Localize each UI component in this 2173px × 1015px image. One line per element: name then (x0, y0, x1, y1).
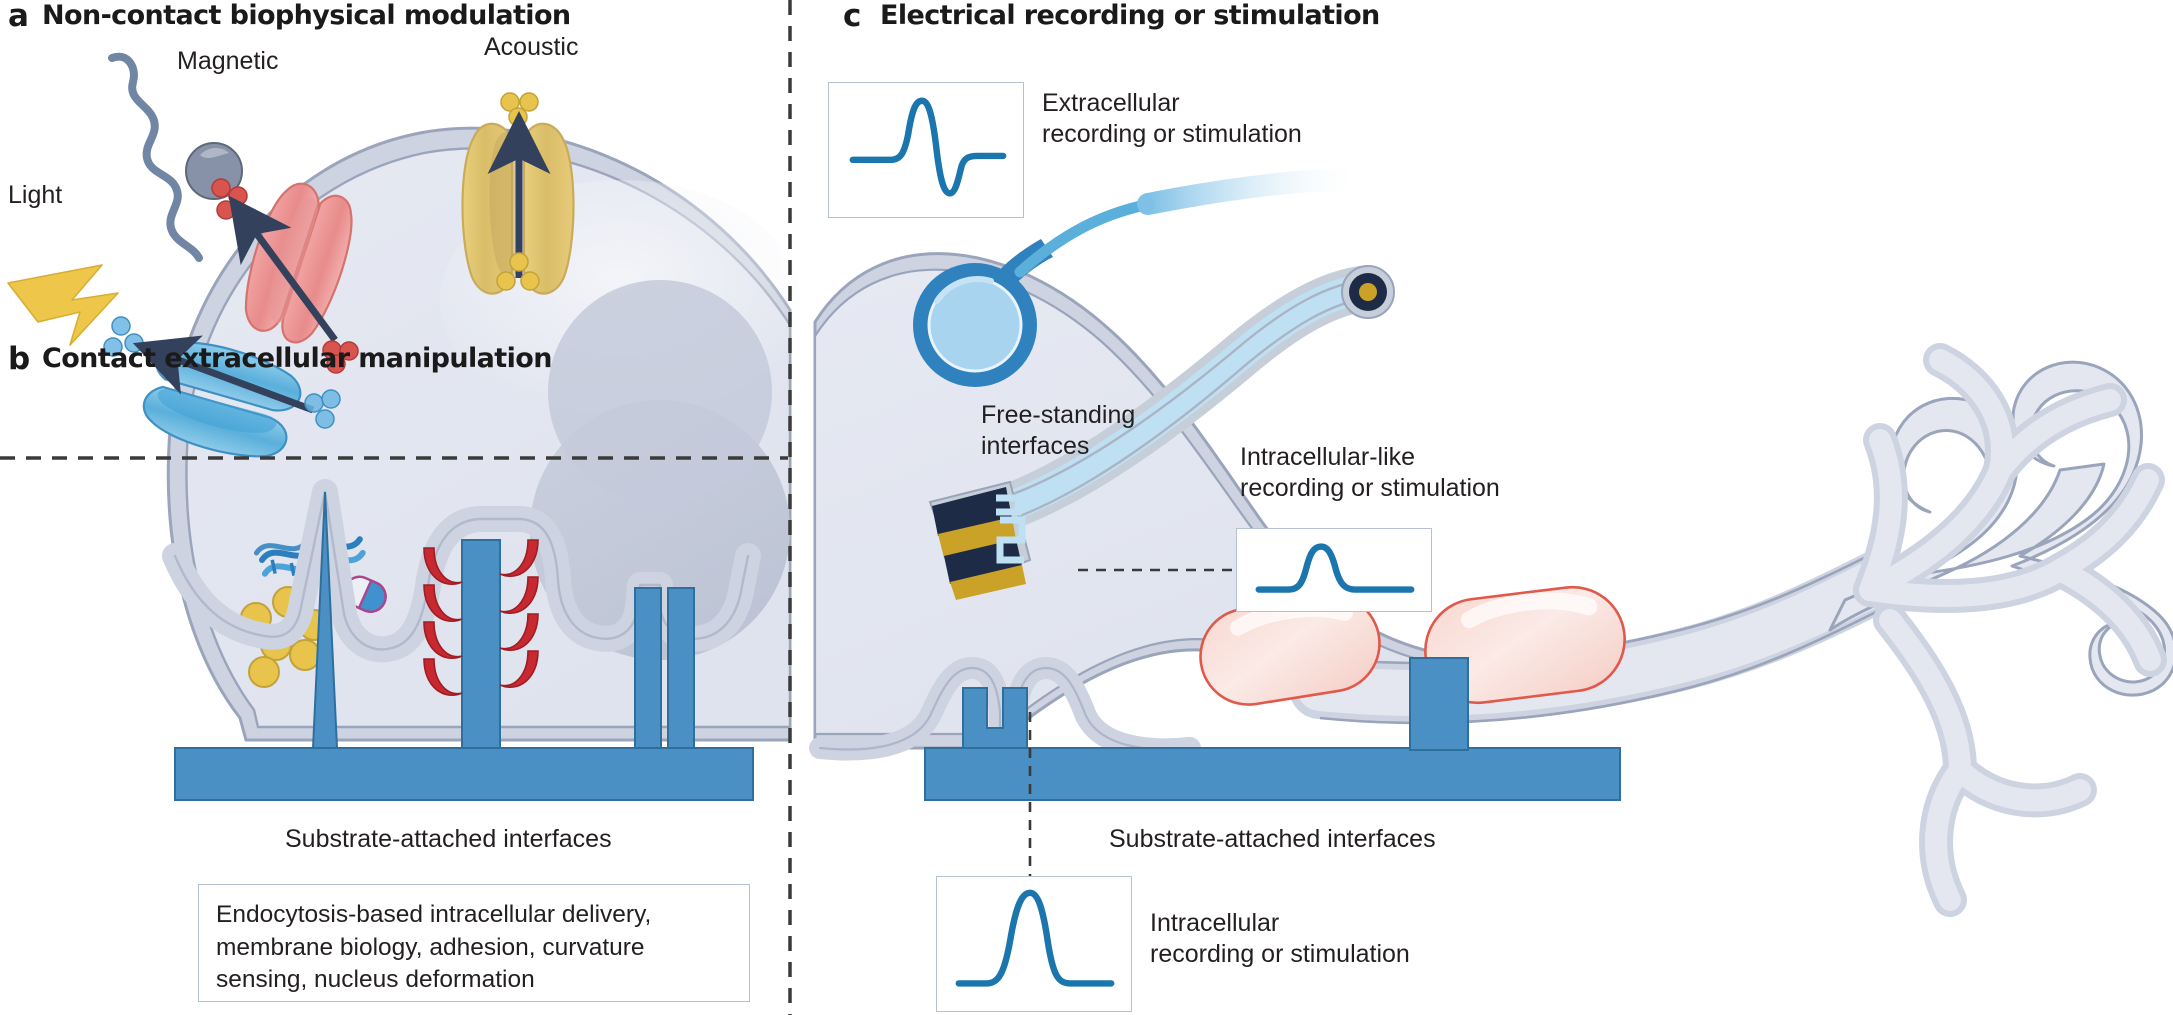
magnetic-ion (217, 201, 235, 219)
intracellular-like-waveform-plot (1237, 529, 1431, 611)
acoustic-ion (521, 272, 539, 290)
light-label: Light (8, 180, 62, 211)
b-nanopillar (462, 540, 500, 748)
magnetic-label: Magnetic (177, 46, 278, 77)
light-ion (305, 394, 323, 412)
acoustic-stimulus-group (463, 93, 574, 294)
panel-c-title: Electrical recording or stimulation (880, 0, 1380, 31)
nanoparticle (290, 640, 320, 670)
figure-root: a Non-contact biophysical modulation Mag… (0, 0, 2173, 1015)
panel-b-letter: b (8, 341, 30, 377)
intracellular-like-waveform-box (1236, 528, 1432, 612)
acoustic-label: Acoustic (484, 32, 578, 63)
panel-b-note-box: Endocytosis-based intracellular delivery… (198, 884, 750, 1002)
light-ion (322, 390, 340, 408)
magnetic-field-wave (112, 57, 199, 258)
patch-cable-stem (1020, 204, 1150, 272)
b-substrate-slab (175, 748, 753, 800)
acoustic-ion (497, 272, 515, 290)
c-axon-pillar (1410, 658, 1468, 750)
b-nanoprong-right (668, 588, 694, 748)
intracellular-waveform-plot (937, 877, 1131, 1011)
extracellular-waveform-box (828, 82, 1024, 218)
patch-cable-tail (1148, 180, 1365, 204)
acoustic-ion (509, 108, 527, 126)
light-ion (316, 410, 334, 428)
intracellular-callout-label: Intracellular recording or stimulation (1150, 908, 1410, 969)
free-standing-callout-label: Free-standing interfaces (981, 400, 1135, 461)
b-nanoprong-left (635, 588, 661, 748)
panel-b-substrate-label: Substrate-attached interfaces (285, 824, 612, 855)
extracellular-waveform-plot (829, 83, 1023, 217)
light-ion (112, 317, 130, 335)
lightning-bolt-icon (8, 265, 118, 345)
probe-tip-electrode (1342, 266, 1394, 318)
extracellular-callout-label: Extracellular recording or stimulation (1042, 88, 1302, 149)
panel-a-title: Non-contact biophysical modulation (42, 0, 571, 31)
acoustic-ion (520, 93, 538, 111)
panel-c-letter: c (843, 0, 861, 34)
panel-c-substrate-label: Substrate-attached interfaces (1109, 824, 1436, 855)
panel-a-letter: a (8, 0, 29, 34)
magnetic-ion (212, 179, 230, 197)
panel-b-title: Contact extracellular manipulation (42, 343, 552, 374)
intracellular-waveform-box (936, 876, 1132, 1012)
illustration-layer (0, 0, 2173, 1015)
acoustic-ion (510, 253, 528, 271)
nanoparticle (249, 657, 279, 687)
left-cell-nucleus-top (548, 280, 772, 504)
intracellular-like-callout-label: Intracellular-like recording or stimulat… (1240, 442, 1500, 503)
